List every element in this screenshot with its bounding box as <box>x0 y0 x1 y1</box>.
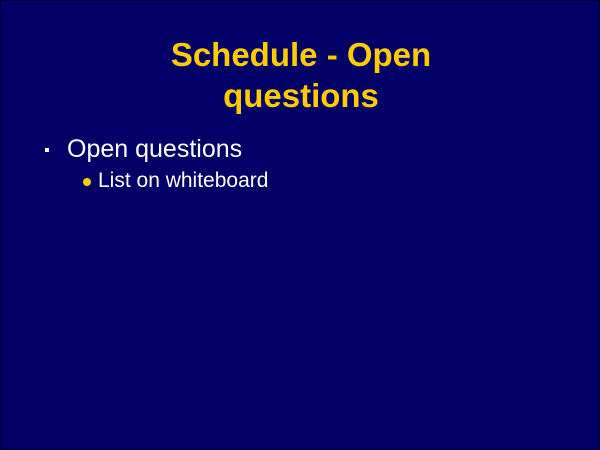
slide-title-line-1: Schedule - Open <box>1 34 600 75</box>
slide-body: Open questions List on whiteboard <box>1 134 600 194</box>
slide-title: Schedule - Open questions <box>1 34 600 116</box>
presentation-slide: Schedule - Open questions Open questions… <box>0 0 600 450</box>
slide-title-line-2: questions <box>1 75 600 116</box>
disc-bullet-icon <box>83 178 91 186</box>
square-bullet-icon <box>45 148 49 152</box>
bullet-item-level-1: Open questions <box>1 134 600 165</box>
bullet-label-open-questions: Open questions <box>67 134 242 165</box>
bullet-label-list-on-whiteboard: List on whiteboard <box>98 168 268 194</box>
bullet-item-level-2: List on whiteboard <box>1 168 600 194</box>
slide-empty-content-area <box>1 216 600 450</box>
